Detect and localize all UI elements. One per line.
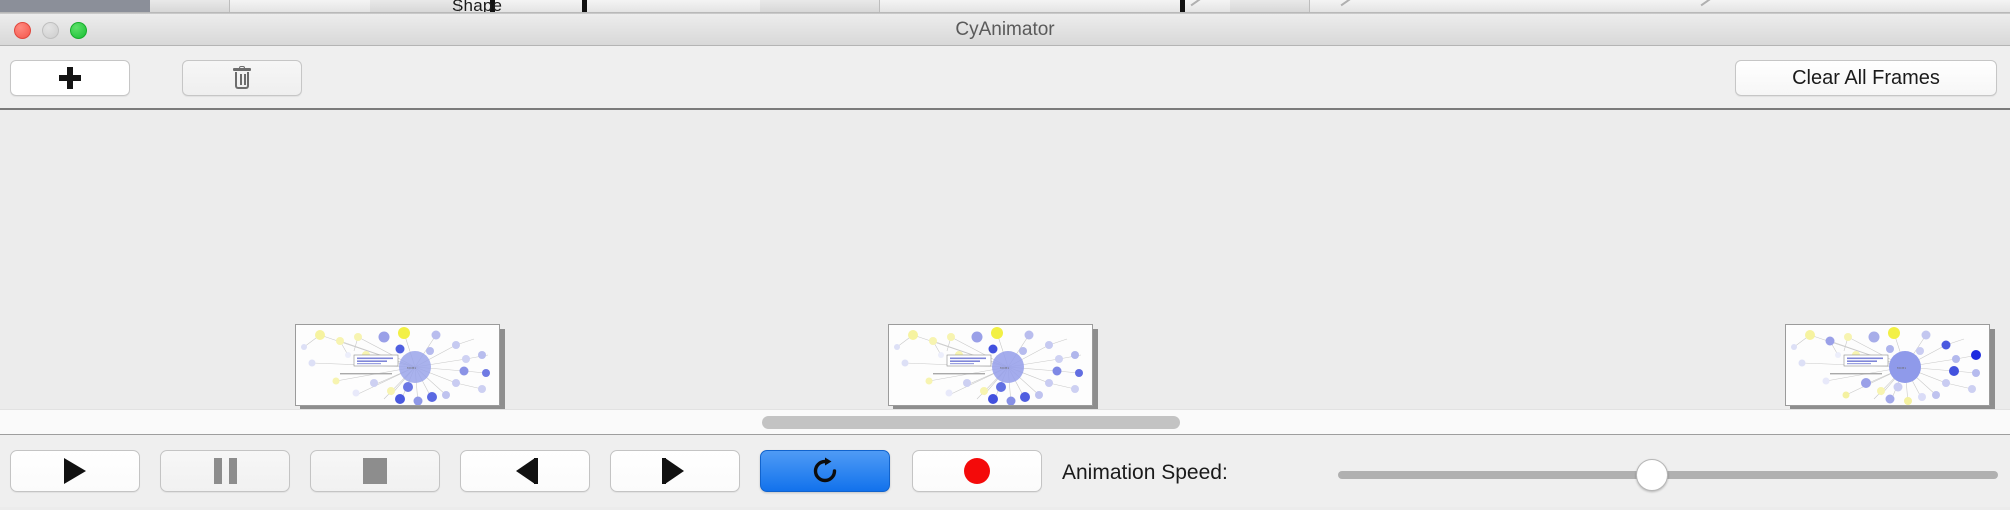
- background-tick: [582, 0, 587, 13]
- frame-network-image: MCM1: [1785, 324, 1990, 406]
- skip-forward-icon: [662, 458, 688, 484]
- delete-frame-button[interactable]: [182, 60, 302, 96]
- svg-text:MCM1: MCM1: [1000, 366, 1009, 370]
- animation-speed-slider[interactable]: [1338, 471, 1998, 479]
- frame-network-image: MCM1: [888, 324, 1093, 406]
- pause-icon: [214, 458, 237, 484]
- background-tick: [1180, 0, 1185, 13]
- playback-control-bar: Animation Speed:: [0, 435, 2010, 507]
- skip-to-start-button[interactable]: [460, 450, 590, 492]
- window-titlebar: CyAnimator: [0, 14, 2010, 46]
- background-window-label: Shape: [452, 0, 502, 13]
- add-frame-button[interactable]: [10, 60, 130, 96]
- stop-icon: [363, 458, 387, 484]
- stop-button[interactable]: [310, 450, 440, 492]
- skip-to-end-button[interactable]: [610, 450, 740, 492]
- record-icon: [964, 458, 990, 484]
- timeline-panel[interactable]: MCM1: [0, 110, 2010, 409]
- svg-text:MCM1: MCM1: [1897, 366, 1906, 370]
- record-button[interactable]: [912, 450, 1042, 492]
- plus-icon: [59, 67, 81, 89]
- background-slash: [1191, 0, 1202, 6]
- animation-speed-label: Animation Speed:: [1062, 461, 1228, 485]
- frame-thumbnail-1[interactable]: MCM1: [295, 324, 505, 409]
- play-button[interactable]: [10, 450, 140, 492]
- timeline-scrollbar[interactable]: [0, 409, 2010, 435]
- background-slash: [1341, 0, 1352, 6]
- background-window-strip: Shape: [0, 0, 2010, 13]
- frame-network-image: MCM1: [295, 324, 500, 406]
- clear-all-frames-label: Clear All Frames: [1792, 67, 1940, 90]
- window-title: CyAnimator: [0, 19, 2010, 41]
- background-chip: [370, 0, 460, 13]
- trash-icon: [232, 66, 252, 90]
- cyanimator-window: CyAnimator Clear All Frames: [0, 13, 2010, 510]
- frame-thumbnail-2[interactable]: MCM1: [888, 324, 1098, 409]
- pause-button[interactable]: [160, 450, 290, 492]
- background-chip: [150, 0, 230, 13]
- play-icon: [64, 458, 86, 484]
- background-slash: [1701, 0, 1712, 6]
- frame-thumbnail-3[interactable]: MCM1: [1785, 324, 1995, 409]
- background-window-titlebar-chip: [0, 0, 150, 12]
- background-chip: [760, 0, 880, 13]
- slider-thumb[interactable]: [1636, 459, 1668, 491]
- clear-all-frames-button[interactable]: Clear All Frames: [1735, 60, 1997, 96]
- loop-icon: [811, 457, 839, 485]
- background-chip: [1230, 0, 1310, 13]
- skip-back-icon: [512, 458, 538, 484]
- slider-track[interactable]: [1338, 471, 1998, 479]
- scrollbar-thumb[interactable]: [762, 416, 1180, 429]
- loop-button[interactable]: [760, 450, 890, 492]
- svg-text:MCM1: MCM1: [407, 366, 416, 370]
- frame-toolbar: Clear All Frames: [0, 46, 2010, 110]
